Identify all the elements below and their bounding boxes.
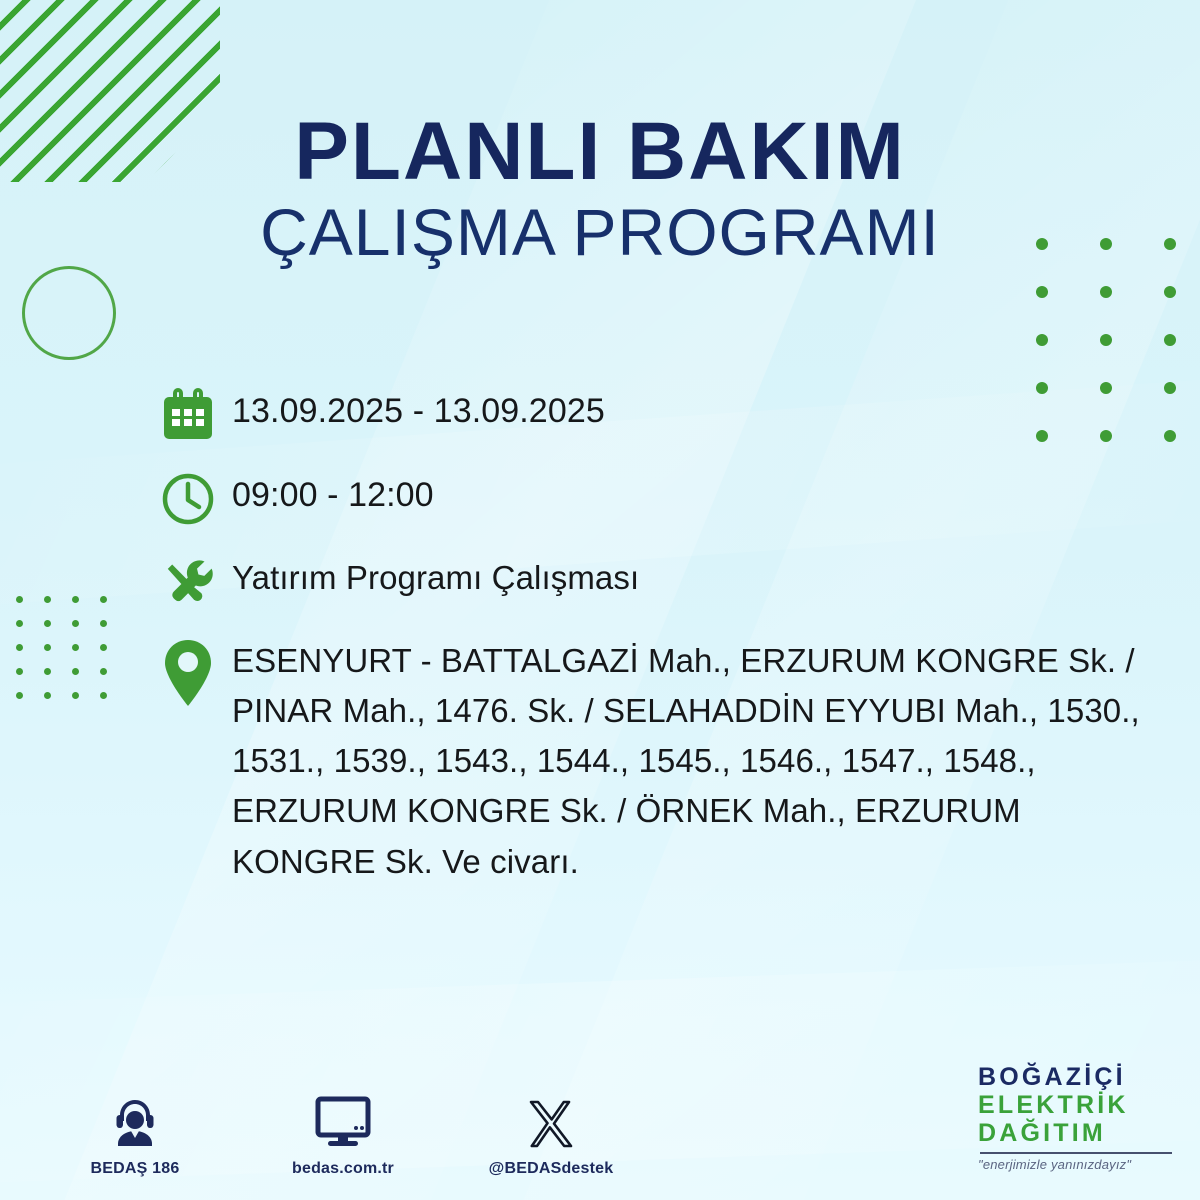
- monitor-icon: [268, 1088, 418, 1150]
- brand-line-1: BOĞAZİÇİ: [978, 1063, 1178, 1091]
- brand-divider: [980, 1152, 1172, 1154]
- contact-website-label: bedas.com.tr: [268, 1160, 418, 1178]
- info-row-date: 13.09.2025 - 13.09.2025: [160, 384, 1160, 446]
- tools-icon: [160, 552, 232, 614]
- contact-social[interactable]: @BEDASdestek: [476, 1088, 626, 1178]
- brand-tagline: "enerjimizle yanınızdayız": [978, 1157, 1178, 1172]
- info-row-work-type: Yatırım Programı Çalışması: [160, 552, 1160, 614]
- brand-line-2: ELEKTRİK: [978, 1091, 1178, 1119]
- x-social-icon: [476, 1088, 626, 1150]
- contact-social-label: @BEDASdestek: [476, 1160, 626, 1178]
- page-title: PLANLI BAKIM ÇALIŞMA PROGRAMI: [0, 112, 1200, 268]
- address-text: ESENYURT - BATTALGAZİ Mah., ERZURUM KONG…: [232, 636, 1160, 887]
- clock-icon: [160, 468, 232, 530]
- brand-line-3: DAĞITIM: [978, 1119, 1178, 1147]
- circle-outline-decoration: [22, 266, 116, 360]
- poster-canvas: PLANLI BAKIM ÇALIŞMA PROGRAMI 13.09.2025…: [0, 0, 1200, 1200]
- contact-phone-label: BEDAŞ 186: [60, 1160, 210, 1178]
- info-row-time: 09:00 - 12:00: [160, 468, 1160, 530]
- location-pin-icon: [160, 636, 232, 700]
- dot-grid-left-decoration: [16, 596, 128, 716]
- title-subtitle: ÇALIŞMA PROGRAMI: [0, 198, 1200, 267]
- work-type-text: Yatırım Programı Çalışması: [232, 552, 1160, 597]
- info-row-address: ESENYURT - BATTALGAZİ Mah., ERZURUM KONG…: [160, 636, 1160, 887]
- info-list: 13.09.2025 - 13.09.2025 09:00 - 12:00: [160, 384, 1160, 909]
- contact-phone[interactable]: BEDAŞ 186: [60, 1088, 210, 1178]
- calendar-icon: [160, 384, 232, 446]
- contact-website[interactable]: bedas.com.tr: [268, 1088, 418, 1178]
- footer-contacts: BEDAŞ 186 bedas.com.tr @BEDASdestek: [60, 1088, 626, 1178]
- brand-logo: BOĞAZİÇİ ELEKTRİK DAĞITIM "enerjimizle y…: [978, 1063, 1178, 1172]
- title-main: PLANLI BAKIM: [0, 112, 1200, 192]
- headset-operator-icon: [60, 1088, 210, 1150]
- date-range-text: 13.09.2025 - 13.09.2025: [232, 384, 1160, 430]
- time-range-text: 09:00 - 12:00: [232, 468, 1160, 514]
